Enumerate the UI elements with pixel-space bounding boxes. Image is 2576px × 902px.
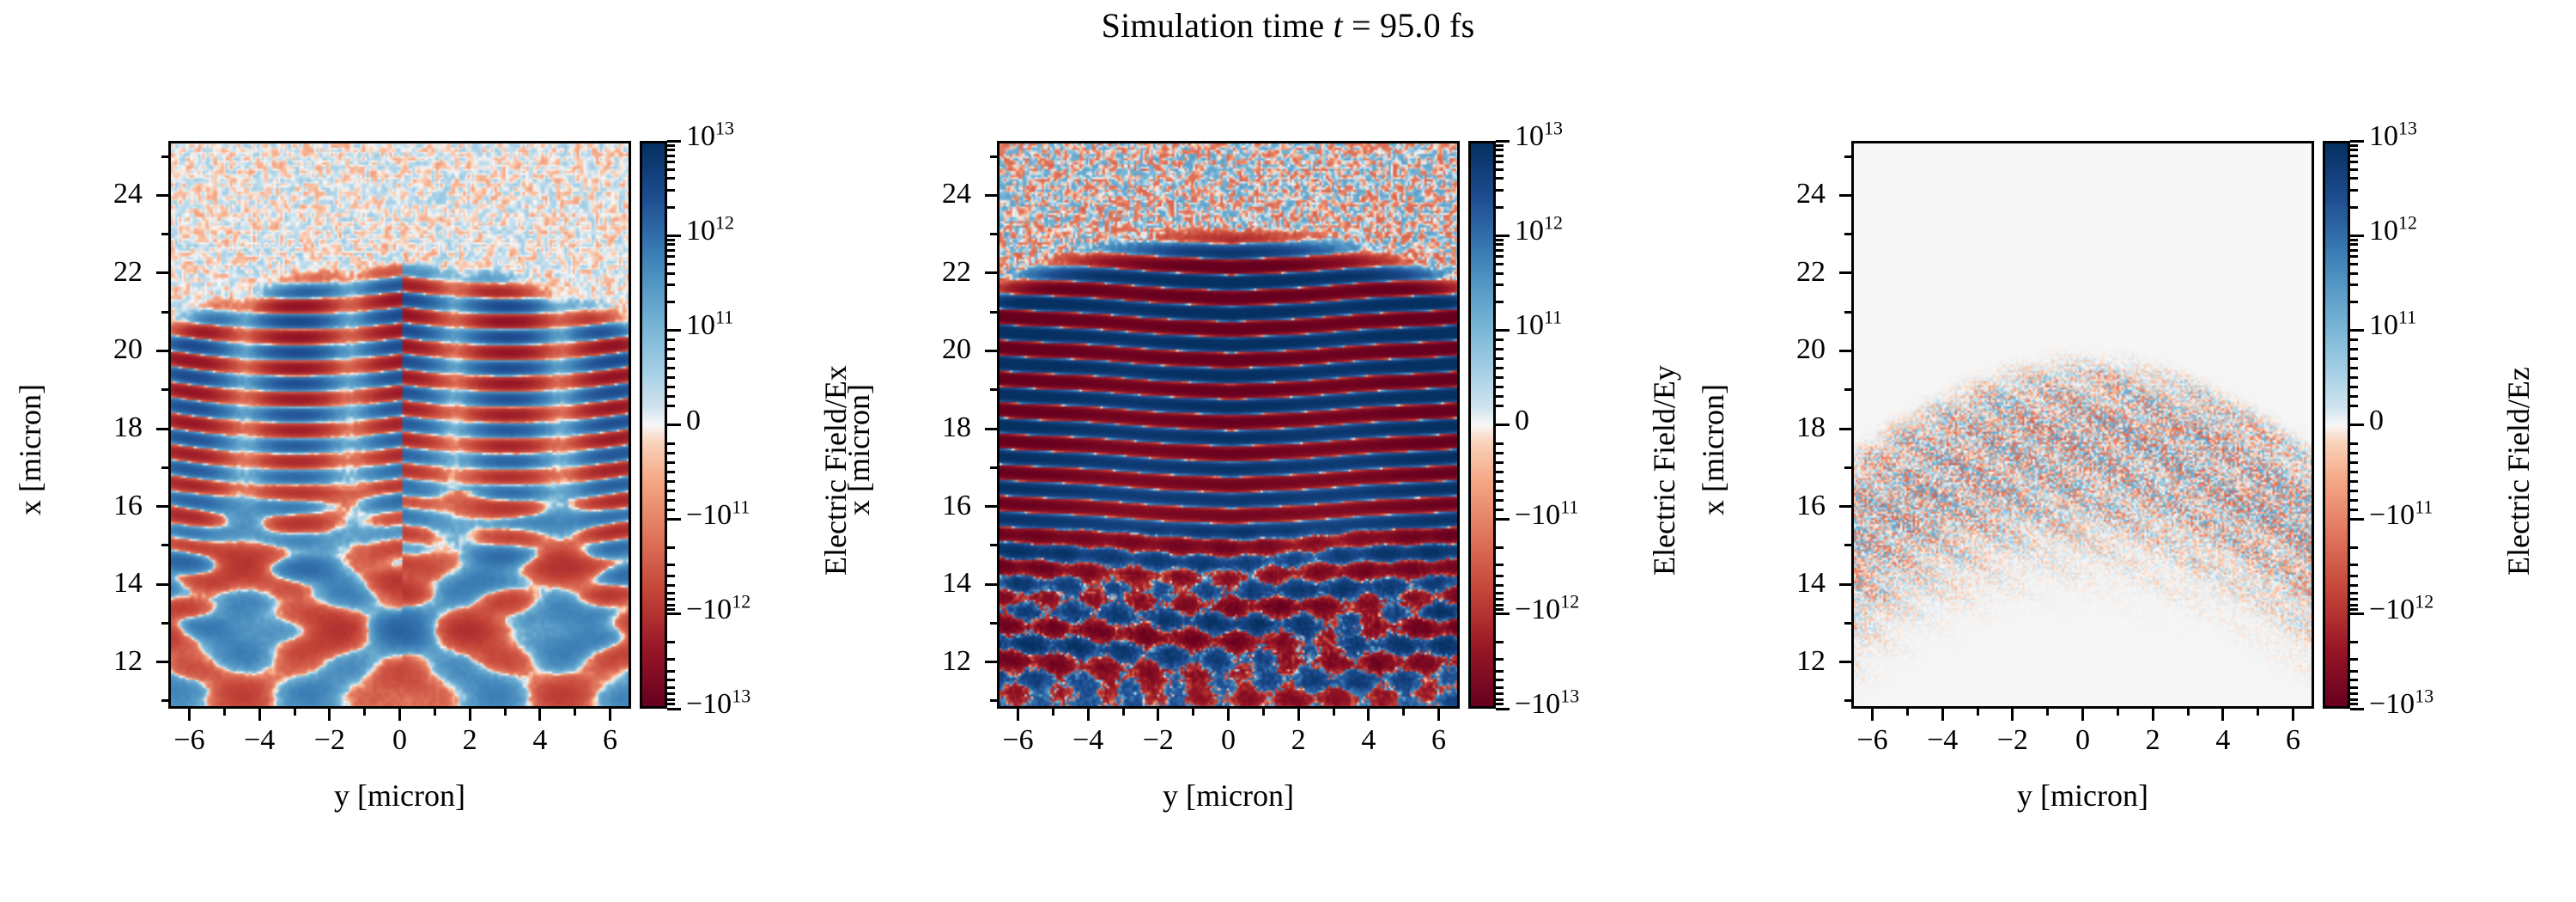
figure-canvas: Simulation time t = 95.0 fs 121416182022… [0, 0, 2576, 902]
x-tick-minor [2046, 709, 2049, 716]
colorbar-tick-label: 1011 [2369, 311, 2416, 340]
x-tick-minor [2187, 709, 2190, 716]
colorbar-tick-minor [2350, 376, 2358, 379]
x-tick-label: 6 [2259, 726, 2328, 755]
x-tick-major [1871, 709, 1874, 721]
colorbar-tick-label: 1013 [2369, 122, 2417, 151]
y-tick-label: 16 [1722, 491, 1826, 521]
colorbar-tick-major [2350, 708, 2364, 710]
y-tick-label: 22 [1722, 258, 1826, 287]
x-tick-label: −2 [1978, 726, 2047, 755]
colorbar-tick-label: −1011 [2369, 501, 2433, 530]
colorbar-tick-minor [2350, 598, 2358, 600]
x-tick-minor [2257, 709, 2259, 716]
colorbar-tick-label: 0 [2369, 406, 2384, 436]
y-tick-label: 18 [1722, 413, 1826, 442]
y-tick-minor [1844, 622, 1851, 625]
colorbar-tick-minor [2350, 480, 2358, 483]
colorbar-tick-minor [2350, 461, 2358, 464]
colorbar-tick-minor [2350, 177, 2358, 180]
colorbar-tick-major [2350, 613, 2364, 615]
x-tick-major [2011, 709, 2014, 721]
x-tick-label: 0 [2049, 726, 2117, 755]
colorbar-tick-minor [2350, 658, 2358, 661]
colorbar-tick-minor [2350, 546, 2358, 549]
x-tick-minor [2117, 709, 2119, 716]
x-tick-minor [1977, 709, 1979, 716]
colorbar-tick-minor [2350, 641, 2358, 643]
colorbar-tick-label: −1012 [2369, 595, 2433, 625]
x-tick-major [2292, 709, 2294, 721]
x-tick-minor [1906, 709, 1909, 716]
colorbar-gradient [2325, 143, 2348, 706]
colorbar-tick-minor [2350, 367, 2358, 369]
x-tick-major [2152, 709, 2154, 721]
y-tick-minor [1844, 233, 1851, 235]
y-tick-major [1839, 271, 1851, 274]
plot-panel-ez: 12141618202224−6−4−20246y [micron]x [mic… [0, 0, 2576, 902]
colorbar-tick-minor [2350, 679, 2358, 681]
colorbar-tick-minor [2350, 161, 2358, 163]
colorbar-tick-minor [2350, 357, 2358, 360]
colorbar-tick-minor [2350, 509, 2358, 511]
colorbar-tick-minor [2350, 584, 2358, 587]
colorbar-tick-minor [2350, 168, 2358, 171]
y-tick-label: 24 [1722, 180, 1826, 209]
y-tick-minor [1844, 699, 1851, 702]
colorbar-tick-minor [2350, 395, 2358, 398]
colorbar-tick-minor [2350, 348, 2358, 350]
colorbar-tick-minor [2350, 149, 2358, 151]
x-tick-major [2221, 709, 2224, 721]
x-axis-title-ez: y [micron] [1826, 777, 2341, 814]
y-tick-major [1839, 350, 1851, 352]
colorbar-tick-major [2350, 518, 2364, 521]
colorbar-tick-minor [2350, 301, 2358, 303]
field-image-ez [1854, 143, 2314, 709]
x-tick-major [1941, 709, 1944, 721]
colorbar-tick-minor [2350, 255, 2358, 258]
y-tick-minor [1844, 388, 1851, 391]
colorbar-tick-minor [2350, 490, 2358, 492]
colorbar-tick-minor [2350, 263, 2358, 265]
y-axis-title-ez: x [micron] [1695, 384, 1731, 515]
axes-ez [1851, 141, 2314, 709]
x-tick-label: 2 [2118, 726, 2187, 755]
colorbar-tick-major [2350, 329, 2364, 332]
colorbar-tick-minor [2350, 471, 2358, 473]
colorbar-tick-minor [2350, 452, 2358, 454]
colorbar-tick-minor [2350, 604, 2358, 606]
colorbar-tick-major [2350, 424, 2364, 426]
y-tick-minor [1844, 466, 1851, 469]
colorbar-tick-minor [2350, 405, 2358, 407]
colorbar-tick-minor [2350, 592, 2358, 594]
x-tick-label: −4 [1908, 726, 1977, 755]
colorbar-tick-minor [2350, 239, 2358, 241]
y-tick-major [1839, 583, 1851, 586]
colorbar-tick-minor [2350, 206, 2358, 209]
colorbar-tick-label: 1012 [2369, 216, 2417, 246]
colorbar-tick-minor [2350, 243, 2358, 246]
colorbar-ez [2323, 141, 2350, 709]
colorbar-tick-minor [2350, 249, 2358, 252]
colorbar-tick-minor [2350, 686, 2358, 689]
y-tick-major [1839, 194, 1851, 197]
y-tick-major [1839, 505, 1851, 508]
colorbar-tick-minor [2350, 155, 2358, 157]
y-tick-major [1839, 428, 1851, 430]
colorbar-tick-minor [2350, 442, 2358, 445]
y-tick-minor [1844, 311, 1851, 314]
colorbar-tick-minor [2350, 272, 2358, 275]
x-tick-major [2081, 709, 2084, 721]
x-tick-label: 4 [2189, 726, 2257, 755]
y-tick-major [1839, 661, 1851, 663]
colorbar-tick-minor [2350, 499, 2358, 502]
colorbar-tick-minor [2350, 564, 2358, 566]
colorbar-tick-minor [2350, 338, 2358, 341]
y-tick-label: 20 [1722, 335, 1826, 364]
colorbar-tick-minor [2350, 608, 2358, 611]
colorbar-tick-minor [2350, 283, 2358, 286]
y-tick-minor [1844, 544, 1851, 546]
colorbar-tick-label: −1013 [2369, 690, 2433, 719]
colorbar-tick-minor [2350, 386, 2358, 388]
colorbar-tick-minor [2350, 575, 2358, 577]
colorbar-tick-minor [2350, 703, 2358, 705]
colorbar-tick-minor [2350, 189, 2358, 192]
colorbar-tick-minor [2350, 698, 2358, 701]
colorbar-tick-major [2350, 235, 2364, 237]
colorbar-tick-minor [2350, 670, 2358, 673]
colorbar-tick-minor [2350, 144, 2358, 147]
colorbar-tick-major [2350, 140, 2364, 143]
colorbar-title-ez: Electric Field/Ez [2500, 367, 2537, 576]
colorbar-tick-minor [2350, 692, 2358, 695]
y-tick-label: 14 [1722, 569, 1826, 598]
x-tick-label: −6 [1838, 726, 1907, 755]
y-tick-minor [1844, 155, 1851, 158]
y-tick-label: 12 [1722, 647, 1826, 676]
